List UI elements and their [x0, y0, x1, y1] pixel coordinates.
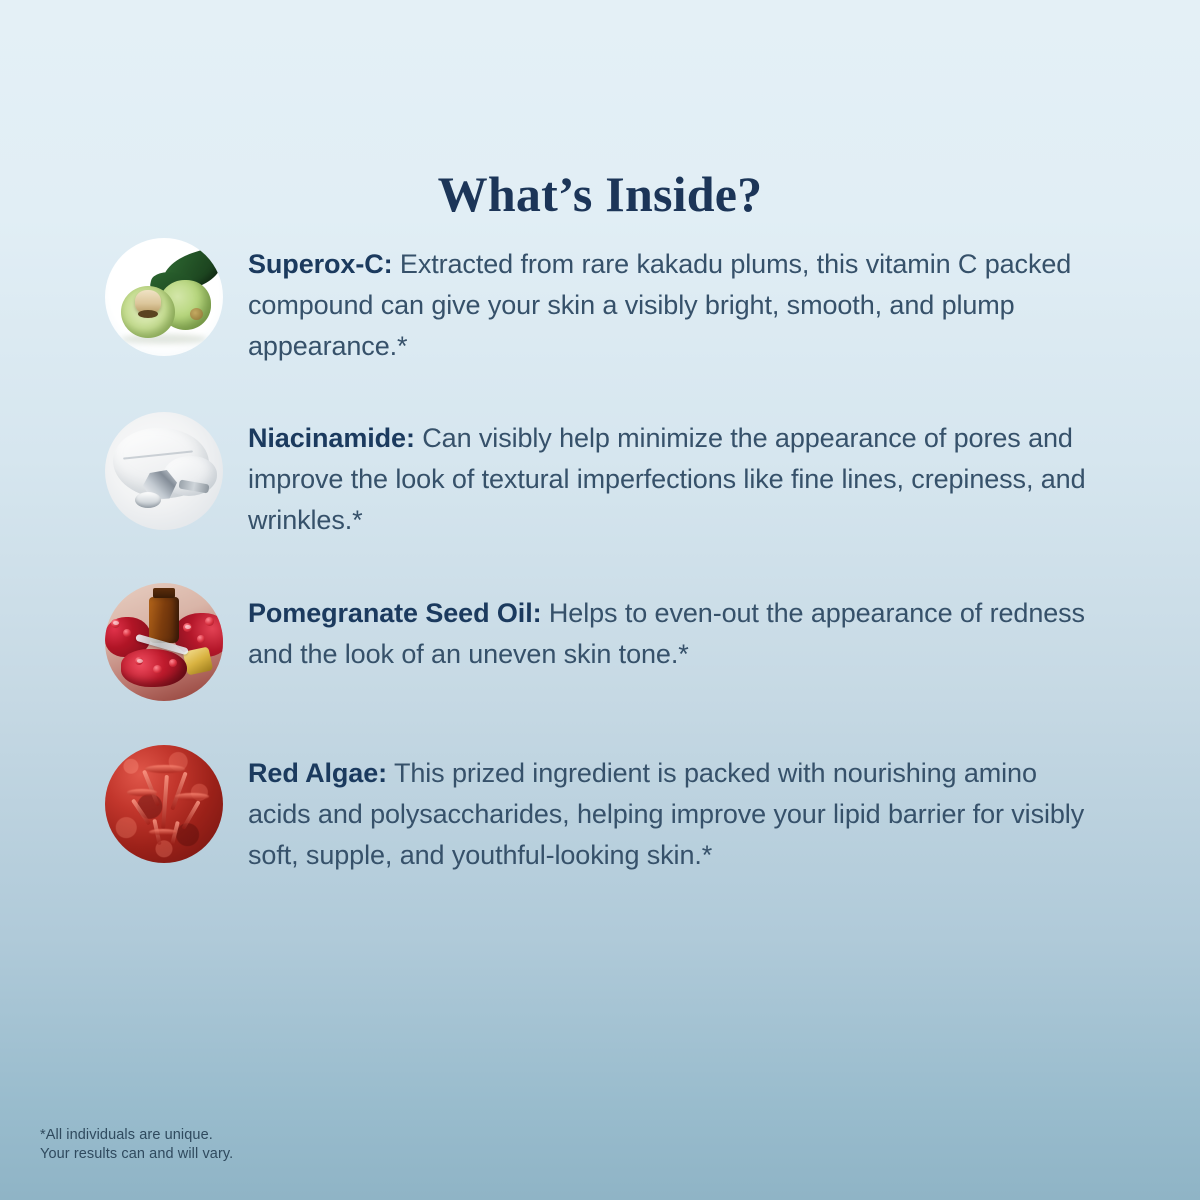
highlight	[137, 659, 143, 663]
red-algae-photo	[105, 745, 223, 863]
algae-branch	[175, 793, 209, 800]
ingredient-text: Niacinamide: Can visibly help minimize t…	[248, 412, 1100, 541]
aril-dot	[153, 665, 162, 674]
footnote-line-1: *All individuals are unique.	[40, 1126, 233, 1145]
ingredient-name: Superox-C:	[248, 249, 393, 279]
list-item: Superox-C: Extracted from rare kakadu pl…	[0, 238, 1200, 367]
thumbnail-wrapper	[105, 412, 225, 532]
plum-seed-shape	[135, 290, 161, 314]
list-item: Red Algae: This prized ingredient is pac…	[0, 745, 1200, 876]
aril-dot	[205, 617, 214, 626]
shadow-shape	[121, 334, 207, 344]
aril-dot	[123, 629, 131, 637]
highlight	[185, 625, 191, 629]
thumbnail-wrapper	[105, 583, 225, 703]
footnote-line-2: Your results can and will vary.	[40, 1145, 233, 1164]
crystal-shape-small	[135, 492, 161, 508]
dropper-bottle-shape	[149, 597, 179, 643]
algae-branch	[127, 789, 157, 796]
ingredient-list: Superox-C: Extracted from rare kakadu pl…	[0, 238, 1200, 922]
aril-dot	[169, 659, 177, 667]
algae-branch	[149, 829, 177, 835]
list-item: Niacinamide: Can visibly help minimize t…	[0, 412, 1200, 541]
list-item: Pomegranate Seed Oil: Helps to even-out …	[0, 583, 1200, 703]
highlight	[113, 621, 119, 625]
thumbnail-wrapper	[105, 238, 225, 358]
aril-dot	[197, 635, 205, 643]
pomegranate-seed-oil-photo	[105, 583, 223, 701]
ingredient-text: Superox-C: Extracted from rare kakadu pl…	[248, 238, 1100, 367]
algae-branch	[145, 765, 185, 773]
ingredient-text: Red Algae: This prized ingredient is pac…	[248, 745, 1100, 876]
thumbnail-wrapper	[105, 745, 225, 865]
ingredient-name: Niacinamide:	[248, 423, 415, 453]
ingredient-text: Pomegranate Seed Oil: Helps to even-out …	[248, 583, 1100, 675]
ingredient-name: Red Algae:	[248, 758, 387, 788]
ingredients-panel: What’s Inside? Superox-C: Extracted from…	[0, 0, 1200, 1200]
niacinamide-crystal-photo	[105, 412, 223, 530]
ingredient-name: Pomegranate Seed Oil:	[248, 598, 542, 628]
page-title: What’s Inside?	[0, 166, 1200, 224]
footnote: *All individuals are unique. Your result…	[40, 1126, 233, 1164]
kakadu-plum-photo	[105, 238, 223, 356]
